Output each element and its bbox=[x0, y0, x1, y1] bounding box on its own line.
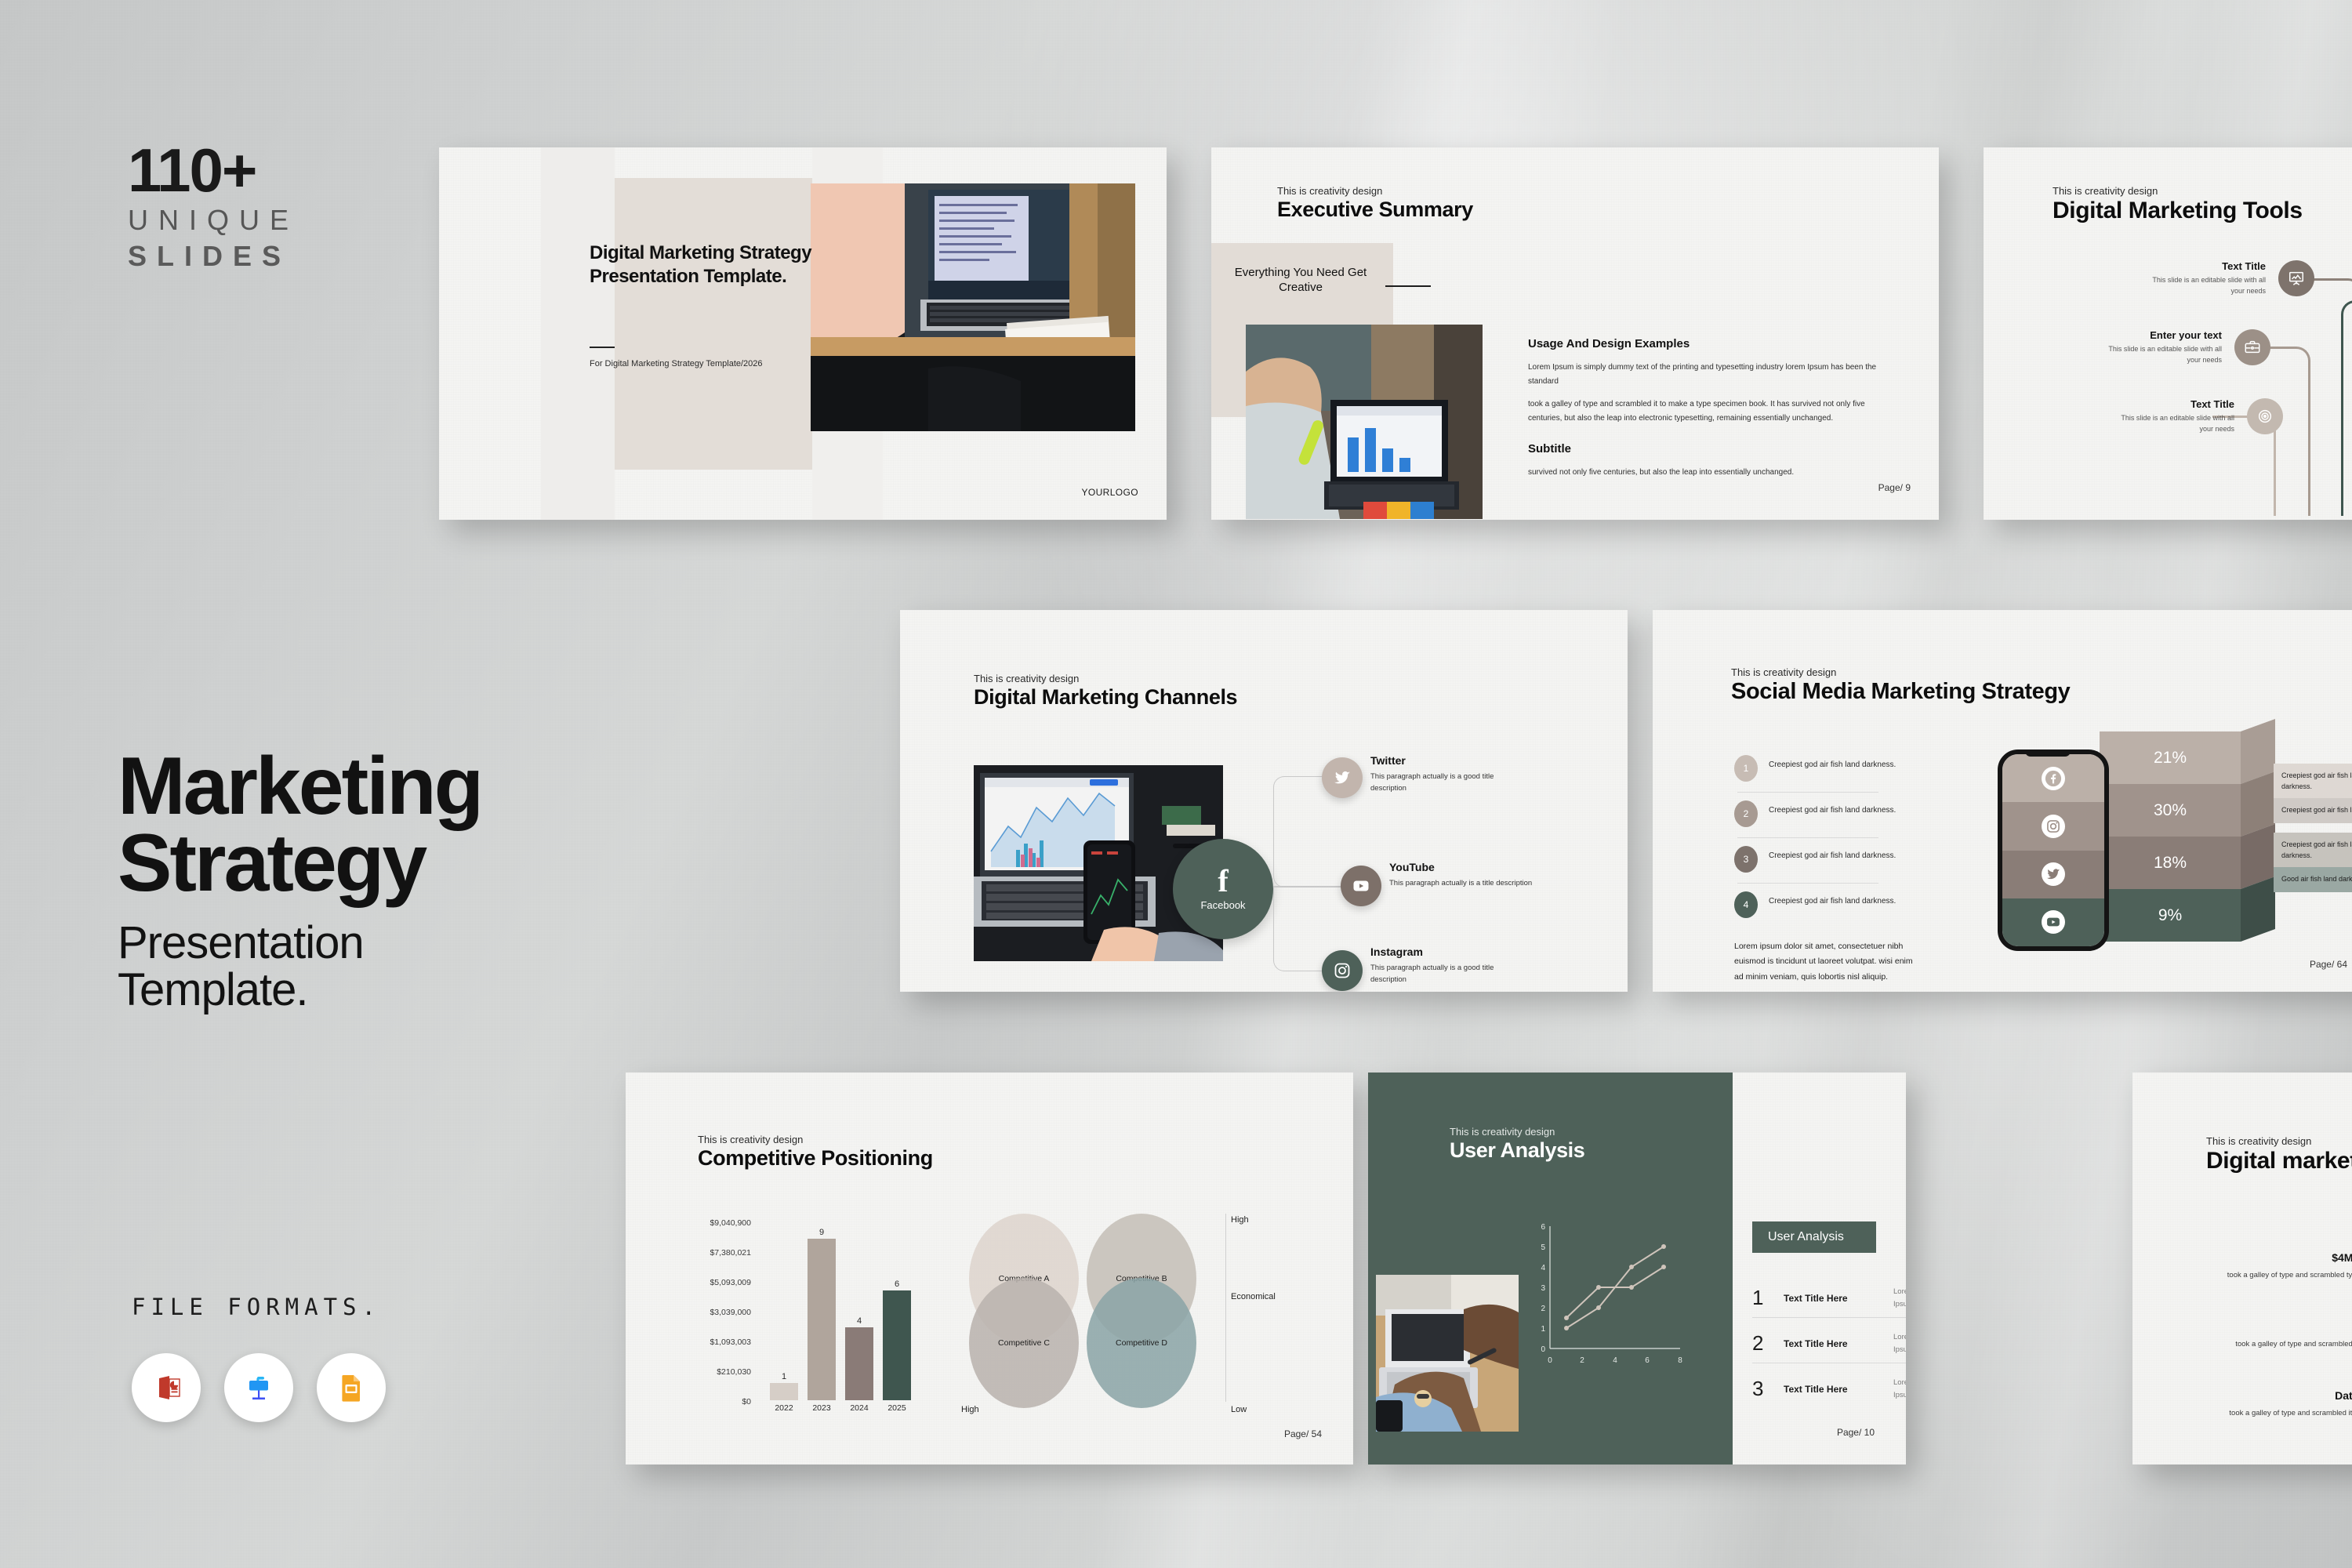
svg-text:6: 6 bbox=[1645, 1356, 1650, 1365]
channels-eyebrow: This is creativity design bbox=[974, 673, 1237, 684]
exec-callout-rule bbox=[1385, 285, 1431, 287]
slide-user-analysis[interactable]: This is creativity design User Analysis … bbox=[1368, 1073, 1906, 1465]
slide-title-text: Digital Marketing Strategy Presentation … bbox=[590, 241, 825, 289]
social-page-number: Page/ 64 bbox=[2310, 959, 2347, 970]
ua-desc-2: Lorem Ipsum is simply dummy text Ipsum. bbox=[1893, 1331, 1906, 1355]
tools-header: This is creativity design Digital Market… bbox=[2053, 185, 2303, 224]
digital-market-title: Digital market bbox=[2206, 1148, 2352, 1174]
xtick-2024: 2024 bbox=[845, 1403, 873, 1413]
ua-num-1: 1 bbox=[1752, 1286, 1784, 1310]
channel-text-twitter: Twitter This paragraph actually is a goo… bbox=[1370, 754, 1519, 794]
decor-band-a bbox=[541, 147, 615, 520]
facebook-glyph: f bbox=[1218, 867, 1228, 895]
youtube-desc: This paragraph actually is a title descr… bbox=[1389, 877, 1538, 889]
target-icon bbox=[2247, 398, 2283, 434]
twitter-desc: This paragraph actually is a good title … bbox=[1370, 771, 1519, 794]
competitive-title: Competitive Positioning bbox=[698, 1146, 933, 1171]
twitter-icon[interactable] bbox=[1322, 757, 1363, 798]
connector-instagram bbox=[1273, 886, 1326, 971]
keynote-icon[interactable] bbox=[224, 1353, 293, 1422]
ytick-3: $3,039,000 bbox=[710, 1308, 751, 1317]
exec-section2-title: Subtitle bbox=[1528, 442, 1881, 456]
tool-3-desc: This slide is an editable slide with all… bbox=[2109, 413, 2234, 434]
social-side-label-3: Creepiest god air fish land darkness. bbox=[2274, 833, 2352, 869]
tool-2-text: Enter your text This slide is an editabl… bbox=[2096, 329, 2222, 365]
ua-desc-1: Lorem Ipsum is simply dummy text Ipsum. bbox=[1893, 1286, 1906, 1309]
hero-line-2: Strategy bbox=[118, 826, 481, 902]
digital-market-eyebrow: This is creativity design bbox=[2206, 1135, 2352, 1147]
svg-text:0: 0 bbox=[1548, 1356, 1552, 1365]
social-pct-instagram: 30% bbox=[2154, 801, 2187, 820]
youtube-icon bbox=[2042, 910, 2065, 934]
quad-label-high-top: High bbox=[1231, 1215, 1249, 1225]
file-format-icons bbox=[132, 1353, 386, 1422]
tool-item-2[interactable]: Enter your text This slide is an editabl… bbox=[2096, 329, 2270, 365]
your-logo-text: YOURLOGO bbox=[1081, 487, 1138, 498]
exec-photo bbox=[1246, 325, 1483, 519]
svg-text:4: 4 bbox=[1613, 1356, 1617, 1365]
phone-segment-instagram bbox=[2002, 802, 2104, 850]
ua-title-2: Text Title Here bbox=[1784, 1338, 1893, 1349]
social-bar-facebook: 21% bbox=[2100, 731, 2241, 784]
file-formats-label: FILE FORMATS. bbox=[132, 1294, 386, 1320]
briefcase-icon bbox=[2234, 329, 2270, 365]
tool-item-3[interactable]: Text Title This slide is an editable sli… bbox=[2109, 398, 2283, 434]
badge-number: 110+ bbox=[128, 141, 299, 199]
user-analysis-title: User Analysis bbox=[1450, 1138, 1584, 1163]
tool-item-1[interactable]: Text Title This slide is an editable sli… bbox=[2140, 260, 2314, 296]
quad-label-low-right: Low bbox=[1231, 1405, 1247, 1414]
slide-social-media[interactable]: This is creativity design Social Media M… bbox=[1653, 610, 2352, 992]
digital-market-block-3: Data Collection took a galley of type an… bbox=[2219, 1389, 2352, 1432]
twitter-icon bbox=[2042, 862, 2065, 886]
social-lorem: Lorem ipsum dolor sit amet, consectetuer… bbox=[1734, 939, 1915, 985]
decor-band-b bbox=[615, 178, 844, 470]
bar-2022 bbox=[770, 1383, 798, 1400]
tool-1-text: Text Title This slide is an editable sli… bbox=[2140, 260, 2266, 296]
social-num-4: 4 bbox=[1734, 891, 1758, 918]
youtube-name: YouTube bbox=[1389, 861, 1538, 873]
hero-subtitle: Presentation Template. bbox=[118, 920, 481, 1015]
slide-subtitle: For Digital Marketing Strategy Template/… bbox=[590, 358, 770, 371]
svg-text:3: 3 bbox=[1541, 1284, 1545, 1293]
svg-text:2: 2 bbox=[1580, 1356, 1584, 1365]
instagram-icon[interactable] bbox=[1322, 950, 1363, 991]
slide-executive-summary[interactable]: This is creativity design Executive Summ… bbox=[1211, 147, 1939, 520]
exec-section2-p: survived not only five centuries, but al… bbox=[1528, 466, 1881, 480]
channels-header: This is creativity design Digital Market… bbox=[974, 673, 1237, 710]
user-analysis-header: This is creativity design User Analysis bbox=[1450, 1126, 1584, 1163]
twitter-name: Twitter bbox=[1370, 754, 1519, 767]
exec-callout: Everything You Need Get Creative bbox=[1225, 265, 1376, 295]
channels-title: Digital Marketing Channels bbox=[974, 685, 1237, 710]
ytick-4: $1,093,003 bbox=[710, 1338, 751, 1347]
bar-value-2022: 1 bbox=[770, 1372, 798, 1381]
slide-competitive-positioning[interactable]: This is creativity design Competitive Po… bbox=[626, 1073, 1353, 1465]
user-analysis-row-3: 3 Text Title Here Lorem Ipsum is simply … bbox=[1752, 1377, 1906, 1401]
social-num-2: 2 bbox=[1734, 800, 1758, 827]
social-list-item-2: 2 Creepiest god air fish land darkness. bbox=[1734, 800, 1915, 827]
svg-text:6: 6 bbox=[1541, 1223, 1545, 1232]
social-side-label-1: Creepiest god air fish land darkness. bbox=[2274, 764, 2352, 800]
ytick-1: $7,380,021 bbox=[710, 1248, 751, 1258]
ytick-0: $9,040,900 bbox=[710, 1218, 751, 1228]
file-formats-block: FILE FORMATS. bbox=[132, 1294, 386, 1422]
tool-1-desc: This slide is an editable slide with all… bbox=[2140, 275, 2266, 296]
tool-3-text: Text Title This slide is an editable sli… bbox=[2109, 398, 2234, 434]
svg-text:0: 0 bbox=[1541, 1345, 1545, 1354]
slide-marketing-channels[interactable]: This is creativity design Digital Market… bbox=[900, 610, 1628, 992]
tools-title: Digital Marketing Tools bbox=[2053, 198, 2303, 224]
digital-market-block-2: $140M took a galley of type and scramble… bbox=[2219, 1320, 2352, 1363]
tool-2-title: Enter your text bbox=[2096, 329, 2222, 341]
competitive-eyebrow: This is creativity design bbox=[698, 1134, 933, 1145]
user-analysis-eyebrow: This is creativity design bbox=[1450, 1126, 1584, 1138]
social-list-item-1: 1 Creepiest god air fish land darkness. bbox=[1734, 755, 1915, 782]
quad-label-economical: Economical bbox=[1231, 1292, 1276, 1301]
bar-2025 bbox=[883, 1290, 911, 1400]
slide-title[interactable]: Digital Marketing Strategy Presentation … bbox=[439, 147, 1167, 520]
pipe-4 bbox=[2341, 300, 2352, 516]
bar-value-2025: 6 bbox=[883, 1279, 911, 1289]
exec-section1-title: Usage And Design Examples bbox=[1528, 337, 1881, 351]
dm-desc-2: took a galley of type and scrambled it t… bbox=[2219, 1338, 2352, 1363]
social-title: Social Media Marketing Strategy bbox=[1731, 679, 2070, 705]
presentation-screen-icon bbox=[2278, 260, 2314, 296]
ua-divider-1 bbox=[1752, 1317, 1906, 1318]
quad-label-high-left: High bbox=[961, 1405, 979, 1414]
digital-market-block-1: $4M Competitor took a galley of type and… bbox=[2219, 1251, 2352, 1294]
exec-section1-p2: took a galley of type and scrambled it t… bbox=[1528, 397, 1881, 425]
social-header: This is creativity design Social Media M… bbox=[1731, 666, 2070, 705]
bar-2023 bbox=[808, 1239, 836, 1400]
xtick-2025: 2025 bbox=[883, 1403, 911, 1413]
social-num-3: 3 bbox=[1734, 846, 1758, 873]
user-analysis-row-2: 2 Text Title Here Lorem Ipsum is simply … bbox=[1752, 1331, 1906, 1356]
social-text-4: Creepiest god air fish land darkness. bbox=[1769, 891, 1896, 908]
social-text-2: Creepiest god air fish land darkness. bbox=[1769, 800, 1896, 817]
svg-text:8: 8 bbox=[1678, 1356, 1682, 1365]
exec-section1-p1: Lorem Ipsum is simply dummy text of the … bbox=[1528, 361, 1881, 388]
title-rule bbox=[590, 347, 615, 348]
svg-text:1: 1 bbox=[1541, 1325, 1545, 1334]
exec-eyebrow: This is creativity design bbox=[1277, 185, 1473, 197]
ua-desc-3: Lorem Ipsum is simply dummy text Ipsum. bbox=[1893, 1377, 1906, 1400]
competitive-header: This is creativity design Competitive Po… bbox=[698, 1134, 933, 1171]
badge-line-slides: SLIDES bbox=[128, 240, 299, 273]
svg-text:2: 2 bbox=[1541, 1305, 1545, 1313]
ua-divider-2 bbox=[1752, 1363, 1906, 1363]
youtube-icon[interactable] bbox=[1341, 866, 1381, 906]
instagram-name: Instagram bbox=[1370, 946, 1519, 958]
svg-text:4: 4 bbox=[1541, 1264, 1545, 1272]
exec-header: This is creativity design Executive Summ… bbox=[1277, 185, 1473, 222]
social-bar-youtube: 9% bbox=[2100, 889, 2241, 942]
social-list-item-4: 4 Creepiest god air fish land darkness. bbox=[1734, 891, 1915, 918]
social-divider-1 bbox=[1737, 792, 1878, 793]
social-bar-instagram: 30% bbox=[2100, 784, 2241, 837]
social-text-1: Creepiest god air fish land darkness. bbox=[1769, 755, 1896, 771]
hero-line-1: Marketing bbox=[118, 749, 481, 826]
social-bar-twitter: 18% bbox=[2100, 837, 2241, 889]
bar-2024 bbox=[845, 1327, 873, 1400]
facebook-icon bbox=[2042, 767, 2065, 790]
bubble-competitive-d: Competitive D bbox=[1087, 1278, 1196, 1408]
ytick-5: $210,030 bbox=[717, 1367, 751, 1377]
competitive-page-number: Page/ 54 bbox=[1284, 1428, 1322, 1439]
user-analysis-photo bbox=[1376, 1275, 1519, 1432]
social-pct-youtube: 9% bbox=[2158, 906, 2182, 925]
dm-title-2: $140M bbox=[2219, 1320, 2352, 1333]
ytick-6: $0 bbox=[742, 1397, 751, 1406]
social-divider-3 bbox=[1737, 883, 1878, 884]
phone-segment-facebook bbox=[2002, 754, 2104, 802]
social-side-label-4: Good air fish land darkness. bbox=[2274, 867, 2352, 892]
title-photo bbox=[811, 183, 1135, 431]
user-analysis-line-chart: 654 3210 024 68 bbox=[1531, 1221, 1688, 1378]
tool-2-desc: This slide is an editable slide with all… bbox=[2096, 344, 2222, 365]
user-analysis-panel-title: User Analysis bbox=[1752, 1221, 1876, 1253]
ua-num-2: 2 bbox=[1752, 1331, 1784, 1356]
bar-side-4 bbox=[2241, 877, 2275, 942]
slide-marketing-tools[interactable]: This is creativity design Digital Market… bbox=[1984, 147, 2352, 520]
ytick-2: $5,093,009 bbox=[710, 1278, 751, 1287]
channel-text-youtube: YouTube This paragraph actually is a tit… bbox=[1389, 861, 1538, 889]
social-side-label-2: Creepiest god air fish land. bbox=[2274, 798, 2352, 823]
social-pct-facebook: 21% bbox=[2154, 749, 2187, 768]
svg-text:5: 5 bbox=[1541, 1243, 1545, 1252]
digital-market-header: This is creativity design Digital market bbox=[2206, 1135, 2352, 1174]
user-analysis-row-1: 1 Text Title Here Lorem Ipsum is simply … bbox=[1752, 1286, 1906, 1310]
bubble-d-label: Competitive D bbox=[1116, 1338, 1167, 1348]
ua-title-3: Text Title Here bbox=[1784, 1384, 1893, 1395]
instagram-icon bbox=[2042, 815, 2065, 838]
bar-value-2024: 4 bbox=[845, 1316, 873, 1326]
dm-desc-1: took a galley of type and scrambled type… bbox=[2219, 1269, 2352, 1294]
bar-value-2023: 9 bbox=[808, 1228, 836, 1237]
phone-notch bbox=[2025, 750, 2071, 757]
badge-line-unique: UNIQUE bbox=[128, 204, 299, 237]
bar-chart-plot: 1 9 4 6 bbox=[767, 1221, 924, 1400]
instagram-desc: This paragraph actually is a good title … bbox=[1370, 962, 1519, 985]
channel-text-instagram: Instagram This paragraph actually is a g… bbox=[1370, 946, 1519, 985]
ua-title-1: Text Title Here bbox=[1784, 1293, 1893, 1304]
xtick-2022: 2022 bbox=[770, 1403, 798, 1413]
user-analysis-page-number: Page/ 10 bbox=[1837, 1427, 1875, 1438]
xtick-2023: 2023 bbox=[808, 1403, 836, 1413]
facebook-label: Facebook bbox=[1200, 899, 1245, 911]
tool-3-title: Text Title bbox=[2109, 398, 2234, 410]
tools-eyebrow: This is creativity design bbox=[2053, 185, 2303, 197]
phone-mockup bbox=[1998, 750, 2109, 951]
phone-segment-twitter bbox=[2002, 851, 2104, 898]
dm-title-3: Data Collection bbox=[2219, 1389, 2352, 1402]
social-divider-2 bbox=[1737, 837, 1878, 838]
exec-title: Executive Summary bbox=[1277, 198, 1473, 222]
social-text-3: Creepiest god air fish land darkness. bbox=[1769, 846, 1896, 862]
slide-digital-market[interactable]: This is creativity design Digital market… bbox=[2132, 1073, 2352, 1465]
social-num-1: 1 bbox=[1734, 755, 1758, 782]
dm-title-1: $4M Competitor bbox=[2219, 1251, 2352, 1264]
exec-page-number: Page/ 9 bbox=[1878, 482, 1911, 493]
promo-column: 110+ UNIQUE SLIDES Marketing Strategy Pr… bbox=[0, 0, 439, 1568]
dm-desc-3: took a galley of type and scrambled it a… bbox=[2219, 1407, 2352, 1432]
powerpoint-icon[interactable] bbox=[132, 1353, 201, 1422]
hero-title-block: Marketing Strategy Presentation Template… bbox=[118, 749, 481, 1014]
phone-segment-youtube bbox=[2002, 898, 2104, 946]
facebook-center-bubble[interactable]: f Facebook bbox=[1173, 839, 1273, 939]
ua-num-3: 3 bbox=[1752, 1377, 1784, 1401]
tool-1-title: Text Title bbox=[2140, 260, 2266, 272]
social-list-item-3: 3 Creepiest god air fish land darkness. bbox=[1734, 846, 1915, 873]
social-pct-twitter: 18% bbox=[2154, 854, 2187, 873]
bubble-c-label: Competitive C bbox=[998, 1338, 1050, 1348]
unique-slides-badge: 110+ UNIQUE SLIDES bbox=[128, 141, 299, 273]
google-slides-icon[interactable] bbox=[317, 1353, 386, 1422]
social-eyebrow: This is creativity design bbox=[1731, 666, 2070, 678]
exec-text-column: Usage And Design Examples Lorem Ipsum is… bbox=[1528, 337, 1881, 480]
bubble-competitive-c: Competitive C bbox=[969, 1278, 1079, 1408]
